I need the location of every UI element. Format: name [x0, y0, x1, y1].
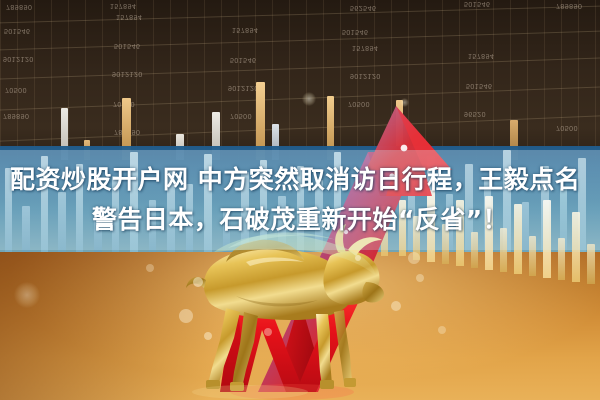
headline-text-block: 配资炒股开户网 中方突然取消访日行程，王毅点名 警告日本，石破茂重新开始“反省”…	[0, 150, 600, 250]
headline-line-2: 警告日本，石破茂重新开始“反省”！	[6, 200, 594, 240]
headline-line-1: 配资炒股开户网 中方突然取消访日行程，王毅点名	[6, 160, 594, 200]
stock-news-banner: 789890 501546 9012120 70500 789890 15789…	[0, 0, 600, 400]
